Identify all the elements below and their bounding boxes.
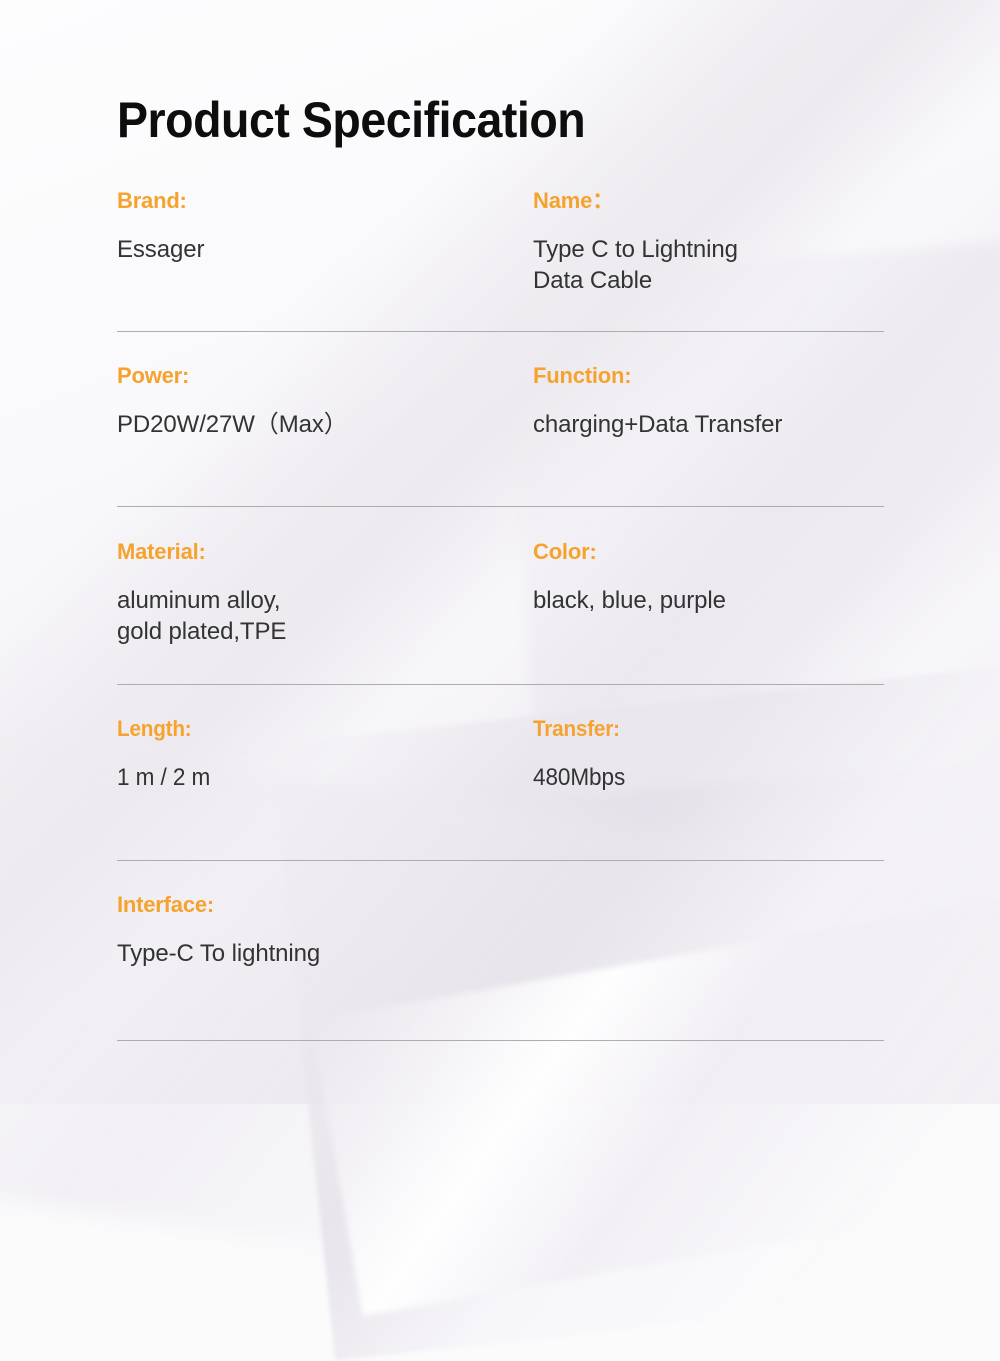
spec-value: black, blue, purple — [533, 585, 893, 616]
spec-cell-left: Brand:Essager — [117, 190, 517, 265]
spec-cell-left: Interface:Type-C To lightning — [117, 894, 517, 969]
spec-divider — [117, 331, 884, 332]
spec-value: PD20W/27W（Max） — [117, 409, 517, 440]
background-fold-secondary — [503, 224, 1000, 796]
spec-label: Transfer: — [533, 718, 871, 740]
spec-value: 1 m / 2 m — [117, 762, 493, 793]
spec-value: Essager — [117, 234, 517, 265]
spec-value: aluminum alloy, gold plated,TPE — [117, 585, 517, 647]
spec-cell-left: Power:PD20W/27W（Max） — [117, 365, 517, 440]
spec-cell-right: Function:charging+Data Transfer — [533, 365, 893, 440]
spec-value: 480Mbps — [533, 762, 871, 793]
spec-label: Name： — [533, 190, 893, 212]
page-title: Product Specification — [117, 91, 585, 149]
spec-divider — [117, 1040, 884, 1041]
spec-cell-right: Color:black, blue, purple — [533, 541, 893, 616]
spec-label: Brand: — [117, 190, 517, 212]
spec-label: Color: — [533, 541, 893, 563]
spec-label: Power: — [117, 365, 517, 387]
spec-label: Length: — [117, 718, 493, 740]
spec-cell-left: Length:1 m / 2 m — [117, 718, 517, 793]
spec-label: Interface: — [117, 894, 517, 916]
spec-divider — [117, 684, 884, 685]
spec-label: Material: — [117, 541, 517, 563]
spec-cell-left: Material:aluminum alloy, gold plated,TPE — [117, 541, 517, 647]
spec-cell-right: Transfer:480Mbps — [533, 718, 893, 793]
background-fold-tertiary — [0, 725, 728, 1295]
spec-cell-right: Name：Type C to Lightning Data Cable — [533, 190, 893, 296]
spec-divider — [117, 860, 884, 861]
spec-value: charging+Data Transfer — [533, 409, 893, 440]
spec-value: Type-C To lightning — [117, 938, 517, 969]
spec-value: Type C to Lightning Data Cable — [533, 234, 893, 296]
spec-label: Function: — [533, 365, 893, 387]
spec-divider — [117, 506, 884, 507]
